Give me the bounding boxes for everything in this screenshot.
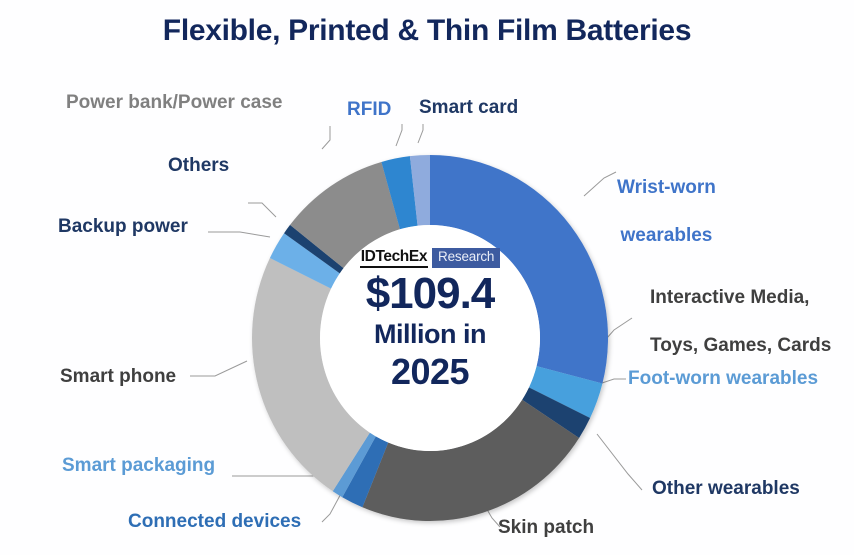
page-title: Flexible, Printed & Thin Film Batteries bbox=[0, 14, 854, 48]
slice-label-connected-devices: Connected devices bbox=[128, 511, 301, 533]
slice-label-wrist-worn-wearables: Wrist-worn wearables bbox=[617, 155, 716, 270]
interactive-media-line-1: Interactive Media, bbox=[650, 287, 831, 309]
donut-svg bbox=[225, 128, 635, 548]
interactive-media-line-2: Toys, Games, Cards bbox=[650, 335, 831, 357]
slice-label-skin-patch: Skin patch bbox=[498, 517, 594, 539]
slice-label-others: Others bbox=[168, 155, 229, 177]
wrist-worn-line-1: Wrist-worn bbox=[617, 177, 716, 199]
slice-label-backup-power: Backup power bbox=[58, 216, 188, 238]
slice-label-smart-card: Smart card bbox=[419, 97, 518, 119]
wrist-worn-line-2: wearables bbox=[617, 225, 716, 247]
slice-label-smart-phone: Smart phone bbox=[60, 366, 176, 388]
slice-label-rfid: RFID bbox=[347, 99, 391, 121]
chart-canvas: Flexible, Printed & Thin Film Batteries bbox=[0, 0, 854, 555]
slice-label-power-bank: Power bank/Power case bbox=[66, 92, 283, 114]
slice-label-other-wearables: Other wearables bbox=[652, 478, 800, 500]
donut-chart: IDTechEx Research $109.4 Million in 2025 bbox=[225, 128, 635, 548]
slice-label-smart-packaging: Smart packaging bbox=[62, 455, 215, 477]
slice-label-interactive-media: Interactive Media, Toys, Games, Cards bbox=[650, 265, 831, 380]
